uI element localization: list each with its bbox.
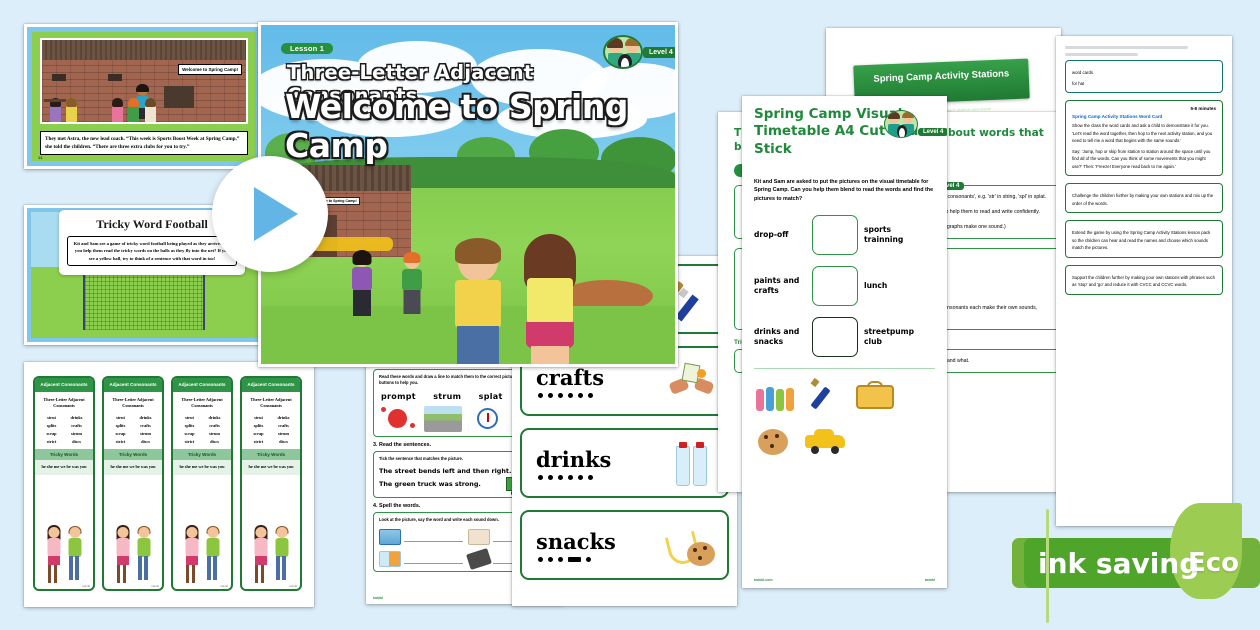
visual-timetable-sheet[interactable]: Spring Camp Visual Timetable A4 Cut and …	[742, 96, 947, 588]
eco-badge: ink saving Eco	[1012, 533, 1260, 593]
bookmarks-sheet[interactable]: Adjacent Consonants Three-Letter Adjacen…	[24, 362, 314, 607]
story-slide-background: Welcome to Spring Camp! They met Astra, …	[32, 32, 256, 161]
spelling-item[interactable]	[379, 551, 463, 567]
sound-dot	[578, 393, 583, 398]
bookmark-word: splits	[178, 423, 201, 428]
bookmark-row: Adjacent Consonants Three-Letter Adjacen…	[33, 376, 302, 591]
answer-line[interactable]	[404, 532, 463, 542]
bookmark-word: drinks	[65, 415, 88, 420]
bookmark-word: strict	[40, 439, 63, 444]
tricky-words-list: he she me we be was you	[173, 460, 231, 475]
bookmark-word: scrap	[40, 431, 63, 436]
divider	[754, 368, 935, 369]
bookmark-word: discs	[272, 439, 295, 444]
tricky-words-list: he she me we be was you	[242, 460, 300, 475]
word-card-word: snacks	[536, 529, 616, 554]
stations-banner-title: Spring Camp Activity Stations	[854, 67, 1029, 85]
sound-dot	[558, 393, 563, 398]
child-figure	[128, 98, 139, 122]
timetable-label-right: lunch	[864, 281, 916, 290]
bookmark-word: drinks	[203, 415, 226, 420]
lesson-step: Support the children further by making y…	[1072, 274, 1216, 289]
girl-figure	[45, 527, 62, 585]
sound-dot	[538, 475, 543, 480]
sound-dot	[558, 475, 563, 480]
sound-buttons	[538, 475, 593, 480]
bookmark-word: strut	[109, 415, 132, 420]
bookmark-word: crafts	[65, 423, 88, 428]
children-icon[interactable]	[754, 377, 798, 415]
lesson-sidebar-note: for hat	[1072, 80, 1216, 88]
word-card-word: crafts	[536, 365, 604, 390]
clock-picture[interactable]	[468, 406, 506, 432]
boy-figure	[66, 527, 83, 585]
bookmark-subheader: Three-Letter Adjacent Consonants	[35, 392, 93, 412]
timetable-grid: drop-off sports trainning paints and cra…	[754, 215, 935, 357]
match-word[interactable]: strum	[433, 392, 461, 401]
bookmark-word: strict	[109, 439, 132, 444]
football-body: Kit and Sam see a game of tricky word fo…	[67, 236, 237, 266]
sound-dot	[588, 475, 593, 480]
eco-badge-eco-text: Eco	[1188, 548, 1239, 578]
paintbrush-icon[interactable]	[804, 377, 848, 415]
timetable-drop-slot[interactable]	[812, 215, 858, 255]
bookmark-word: strict	[178, 439, 201, 444]
lesson-sidebar-note: word cards	[1072, 69, 1216, 77]
boy-figure	[273, 527, 290, 585]
timetable-label-left: drop-off	[754, 230, 806, 239]
bookmark-subheader: Three-Letter Adjacent Consonants	[242, 392, 300, 412]
spelling-item[interactable]	[379, 529, 463, 545]
tricky-words-list: he she me we be was you	[104, 460, 162, 475]
lesson-pill: Lesson 1	[281, 43, 333, 54]
bookmark-word: drinks	[272, 415, 295, 420]
sound-dot	[568, 393, 573, 398]
bookmark-word-list: strut drinks splits crafts scrap strum s…	[173, 412, 231, 449]
child-running	[349, 252, 375, 318]
bookmark-word: strum	[134, 431, 157, 436]
tricky-words-header: Tricky Words	[104, 449, 162, 460]
timetable-intro: Kit and Sam are asked to put the picture…	[754, 178, 935, 203]
girl-character	[517, 236, 583, 367]
bookmark-illustration	[35, 511, 93, 585]
lunchbox-icon	[379, 529, 401, 545]
lesson-step: Extend the game by using the Spring Camp…	[1072, 229, 1216, 252]
bookmark-word: crafts	[203, 423, 226, 428]
match-word[interactable]: splat	[479, 392, 503, 401]
bookmark-word: strum	[203, 431, 226, 436]
sound-dash	[568, 557, 581, 562]
bookmark-subheader: Three-Letter Adjacent Consonants	[104, 392, 162, 412]
twinkl-logo: twinkl	[373, 596, 383, 600]
bookmark-word: drinks	[134, 415, 157, 420]
tricky-words-header: Tricky Words	[35, 449, 93, 460]
car-icon[interactable]	[804, 421, 848, 459]
bookmark-footer-code: twinkl	[82, 584, 90, 588]
timetable-drop-slot[interactable]	[812, 266, 858, 306]
lesson-duration: 5-8 minutes	[1072, 106, 1216, 111]
timetable-row: drop-off sports trainning	[754, 215, 935, 255]
bookmark-word: strict	[247, 439, 270, 444]
child-figure	[66, 98, 77, 122]
timetable-label-right: streetpump club	[864, 327, 916, 346]
bookmark-word: strut	[247, 415, 270, 420]
timetable-footer-left: twinkl.com	[754, 578, 773, 582]
boy-figure	[135, 527, 152, 585]
sound-buttons	[538, 557, 591, 562]
boy-character	[447, 238, 509, 367]
timetable-label-right: sports trainning	[864, 225, 916, 244]
lesson-step: Challenge the children further by making…	[1072, 192, 1216, 207]
story-illustration: Welcome to Spring Camp!	[40, 38, 248, 124]
lesson-plan-block: Challenge the children further by making…	[1065, 183, 1223, 213]
story-speech-bubble: Welcome to Spring Camp!	[178, 64, 242, 75]
bookmark-word: discs	[65, 439, 88, 444]
street-picture[interactable]	[424, 406, 462, 432]
sound-buttons	[538, 393, 593, 398]
story-caption: They met Astra, the new lead coach. “Thi…	[40, 131, 248, 155]
lesson-plan-block: 5-8 minutes Spring Camp Activity Station…	[1065, 100, 1223, 176]
child-figure	[145, 98, 156, 122]
girl-figure	[183, 527, 200, 585]
bookmark-word-list: strut drinks splits crafts scrap strum s…	[242, 412, 300, 449]
bookmark-illustration	[173, 511, 231, 585]
boy-figure	[204, 527, 221, 585]
tricky-words-header: Tricky Words	[242, 449, 300, 460]
play-video-button[interactable]	[212, 156, 328, 272]
eco-badge-text: ink saving	[1038, 547, 1199, 580]
screenshot-canvas: Welcome to Spring Camp! They met Astra, …	[0, 0, 1260, 630]
cookie-icon[interactable]	[754, 421, 798, 459]
word-card[interactable]: drinks	[520, 428, 729, 498]
sound-dot	[588, 393, 593, 398]
word-card-word: drinks	[536, 447, 611, 472]
bookmark-word: strum	[65, 431, 88, 436]
bookmark-word: strut	[178, 415, 201, 420]
bookmark-footer-code: twinkl	[220, 584, 228, 588]
bookmark-word: crafts	[272, 423, 295, 428]
bookmark-footer-code: twinkl	[289, 584, 297, 588]
child-running	[399, 254, 425, 316]
story-page-number: 14	[38, 155, 42, 160]
sound-dot	[586, 557, 591, 562]
bookmark[interactable]: Adjacent Consonants Three-Letter Adjacen…	[171, 376, 233, 591]
bookmark-illustration	[242, 511, 300, 585]
mascot-characters	[603, 35, 643, 69]
bookmark-header: Adjacent Consonants	[242, 378, 300, 392]
sprinkler-icon	[466, 548, 492, 570]
level-badge: Level 4	[918, 128, 947, 136]
football-goal	[83, 272, 205, 330]
bookmark[interactable]: Adjacent Consonants Three-Letter Adjacen…	[33, 376, 95, 591]
bookmark-word: splits	[109, 423, 132, 428]
bookmark-word: crafts	[134, 423, 157, 428]
bookmark-word: splits	[247, 423, 270, 428]
sound-dot	[548, 475, 553, 480]
bookmark-word: scrap	[178, 431, 201, 436]
bookmark-word: scrap	[247, 431, 270, 436]
lesson-plan-block: Support the children further by making y…	[1065, 265, 1223, 295]
play-icon	[254, 187, 298, 241]
banana-cookie-icon	[667, 524, 717, 570]
title-slide-title: Welcome to Spring Camp	[285, 87, 661, 165]
timetable-row: drinks and snacks streetpump club	[754, 317, 935, 357]
word-card[interactable]: snacks	[520, 510, 729, 580]
lunchbox-icon[interactable]	[854, 377, 898, 415]
child-figure	[112, 98, 123, 122]
bookmark-word: strum	[272, 431, 295, 436]
girl-figure	[252, 527, 269, 585]
match-word[interactable]: prompt	[381, 392, 416, 401]
sound-dot	[538, 557, 543, 562]
hut-roof	[42, 40, 246, 60]
tricky-words-header: Tricky Words	[173, 449, 231, 460]
lesson-step: Show the class the word cards and ask a …	[1072, 122, 1216, 145]
bookmark-illustration	[104, 511, 162, 585]
timetable-label-left: drinks and snacks	[754, 327, 806, 346]
timetable-drop-slot[interactable]	[812, 317, 858, 357]
timetable-footer-right: twinkl	[925, 578, 935, 582]
sound-dot	[548, 393, 553, 398]
lesson-plan-sheet[interactable]: word cards for hat 5-8 minutes Spring Ca…	[1056, 36, 1232, 526]
sound-dot	[538, 393, 543, 398]
lesson-plan-block: word cards for hat	[1065, 60, 1223, 93]
answer-line[interactable]	[404, 554, 463, 564]
sound-dot	[558, 557, 563, 562]
crafts-icon	[468, 529, 490, 545]
bookmark-word: discs	[203, 439, 226, 444]
level-badge: Level 4	[643, 47, 678, 58]
resource-link[interactable]: Spring Camp Activity Stations Word Card	[1072, 114, 1216, 119]
bookmark[interactable]: Adjacent Consonants Three-Letter Adjacen…	[240, 376, 302, 591]
tricky-words-list: he she me we be was you	[35, 460, 93, 475]
bookmark-word: discs	[134, 439, 157, 444]
sound-dot	[578, 475, 583, 480]
timetable-label-left: paints and crafts	[754, 276, 806, 295]
story-slide-thumbnail[interactable]: Welcome to Spring Camp! They met Astra, …	[24, 24, 264, 169]
bookmark-word: strut	[40, 415, 63, 420]
girl-figure	[114, 527, 131, 585]
sound-dot	[548, 557, 553, 562]
bookmark-header: Adjacent Consonants	[104, 378, 162, 392]
lesson-step: Say: 'Jump, hop or skip from station to …	[1072, 148, 1216, 171]
drinks-icon	[379, 551, 401, 567]
timetable-footer: twinkl.com twinkl	[754, 578, 935, 582]
sound-dot	[568, 475, 573, 480]
splat-picture[interactable]	[379, 406, 417, 432]
bookmark-word: scrap	[109, 431, 132, 436]
bookmark-word-list: strut drinks splits crafts scrap strum s…	[104, 412, 162, 449]
mascot-characters	[884, 110, 918, 136]
bookmark-subheader: Three-Letter Adjacent Consonants	[173, 392, 231, 412]
bookmark-footer-code: twinkl	[151, 584, 159, 588]
lesson-plan-block: Extend the game by using the Spring Camp…	[1065, 220, 1223, 258]
bookmark[interactable]: Adjacent Consonants Three-Letter Adjacen…	[102, 376, 164, 591]
water-bottles-icon	[667, 442, 717, 488]
timetable-cutouts	[754, 377, 935, 459]
bookmark-word-list: strut drinks splits crafts scrap strum s…	[35, 412, 93, 449]
bookmark-header: Adjacent Consonants	[35, 378, 93, 392]
bookmark-header: Adjacent Consonants	[173, 378, 231, 392]
bookmark-word: splits	[40, 423, 63, 428]
timetable-row: paints and crafts lunch	[754, 266, 935, 306]
